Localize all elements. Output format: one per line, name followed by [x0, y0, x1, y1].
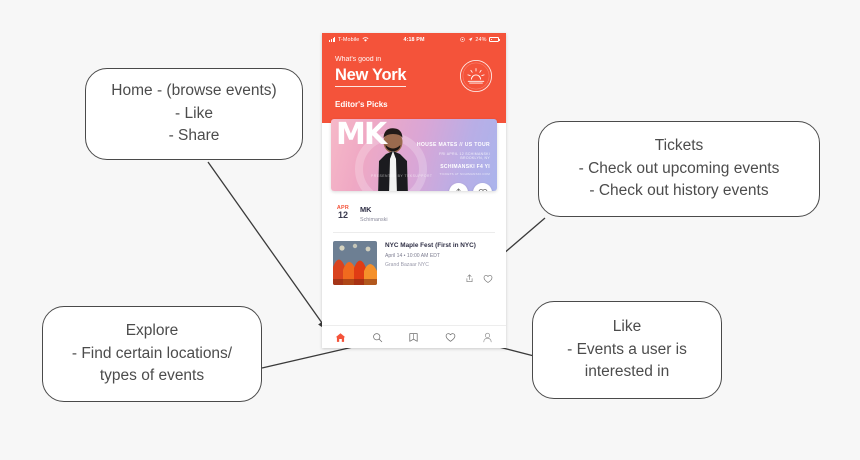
nav-heart-icon	[445, 332, 456, 343]
callout-like-line-3: interested in	[585, 361, 669, 383]
event-title: MK	[360, 205, 388, 214]
arrow-home-to-nav	[208, 162, 327, 330]
list-item-datetime: April 14 • 10:00 AM EDT	[385, 253, 495, 259]
list-item-actions	[385, 274, 495, 284]
hero-header: What's good in New York Editor's	[322, 46, 506, 123]
featured-event-row[interactable]: APR 12 MK Schimanski	[322, 191, 506, 223]
event-venue: Schimanski	[360, 217, 388, 223]
alarm-icon	[460, 37, 465, 42]
phone-mockup: T-Mobile 4:18 PM 24% What	[322, 33, 506, 348]
section-title-editors-picks: Editor's Picks	[335, 100, 493, 109]
callout-like: Like - Events a user is interested in	[532, 301, 722, 399]
nav-tickets-icon	[408, 332, 419, 343]
carrier-label: T-Mobile	[338, 37, 359, 43]
callout-tickets: Tickets - Check out upcoming events - Ch…	[538, 121, 820, 217]
annotated-app-screenshot: Home - (browse events) - Like - Share Ti…	[0, 0, 860, 460]
promo-watermark: PRESENTED BY TEKSUPPORT	[371, 174, 432, 178]
callout-explore-line-1: Explore	[126, 320, 179, 342]
callout-explore: Explore - Find certain locations/ types …	[42, 306, 262, 402]
card-action-buttons	[449, 183, 492, 191]
artist-logo: MK	[336, 120, 385, 150]
status-bar: T-Mobile 4:18 PM 24%	[322, 33, 506, 46]
callout-like-line-2: - Events a user is	[567, 339, 687, 361]
list-item[interactable]: NYC Maple Fest (First in NYC) April 14 •…	[322, 233, 506, 285]
signal-bars-icon	[329, 37, 335, 42]
nav-home-tab[interactable]	[322, 332, 359, 343]
callout-home-line-2: - Like	[175, 103, 213, 125]
wifi-icon	[362, 37, 369, 42]
sunrise-logo-icon	[459, 59, 493, 93]
event-date-block: APR 12	[335, 205, 351, 220]
hero-city-title[interactable]: New York	[335, 66, 406, 87]
promo-city-line: BROOKLYN, NY	[417, 156, 490, 160]
featured-event-card[interactable]: MK HOUSE MATES // US TOUR FRI APRIL 12 S…	[331, 119, 497, 191]
event-day: 12	[335, 211, 351, 220]
share-icon	[454, 188, 463, 191]
nav-home-icon	[335, 332, 346, 343]
nav-search-icon	[372, 332, 383, 343]
bottom-tab-bar	[322, 325, 506, 348]
battery-icon	[489, 37, 499, 42]
nav-person-icon	[482, 332, 493, 343]
callout-like-line-1: Like	[613, 316, 641, 338]
callout-explore-line-3: types of events	[100, 365, 204, 387]
callout-tickets-line-1: Tickets	[655, 135, 704, 157]
nav-search-tab[interactable]	[359, 332, 396, 343]
heart-icon	[478, 188, 488, 192]
share-icon[interactable]	[465, 274, 474, 283]
promo-venue-line: SCHIMANSKI F4 YI	[417, 164, 490, 170]
promo-tour-line: HOUSE MATES // US TOUR	[417, 142, 490, 148]
promo-text-block: HOUSE MATES // US TOUR FRI APRIL 12 SCHI…	[417, 142, 490, 176]
event-info-block: MK Schimanski	[360, 205, 388, 223]
battery-percent-label: 24%	[475, 37, 486, 43]
callout-tickets-line-3: - Check out history events	[589, 180, 768, 202]
heart-icon[interactable]	[483, 274, 493, 284]
list-item-title: NYC Maple Fest (First in NYC)	[385, 242, 495, 249]
event-thumbnail	[333, 241, 377, 285]
location-arrow-icon	[468, 37, 473, 42]
list-item-text: NYC Maple Fest (First in NYC) April 14 •…	[385, 241, 495, 285]
callout-home-line-3: - Share	[169, 125, 220, 147]
clock-label: 4:18 PM	[403, 37, 424, 43]
nav-tickets-tab[interactable]	[396, 332, 433, 343]
card-like-button[interactable]	[473, 183, 492, 191]
callout-explore-line-2: - Find certain locations/	[72, 343, 232, 365]
callout-tickets-line-2: - Check out upcoming events	[579, 158, 780, 180]
list-item-venue: Grand Bazaar NYC	[385, 262, 495, 268]
callout-home: Home - (browse events) - Like - Share	[85, 68, 303, 160]
nav-profile-tab[interactable]	[469, 332, 506, 343]
callout-home-line-1: Home - (browse events)	[111, 80, 276, 102]
card-share-button[interactable]	[449, 183, 468, 191]
nav-heart-tab[interactable]	[432, 332, 469, 343]
